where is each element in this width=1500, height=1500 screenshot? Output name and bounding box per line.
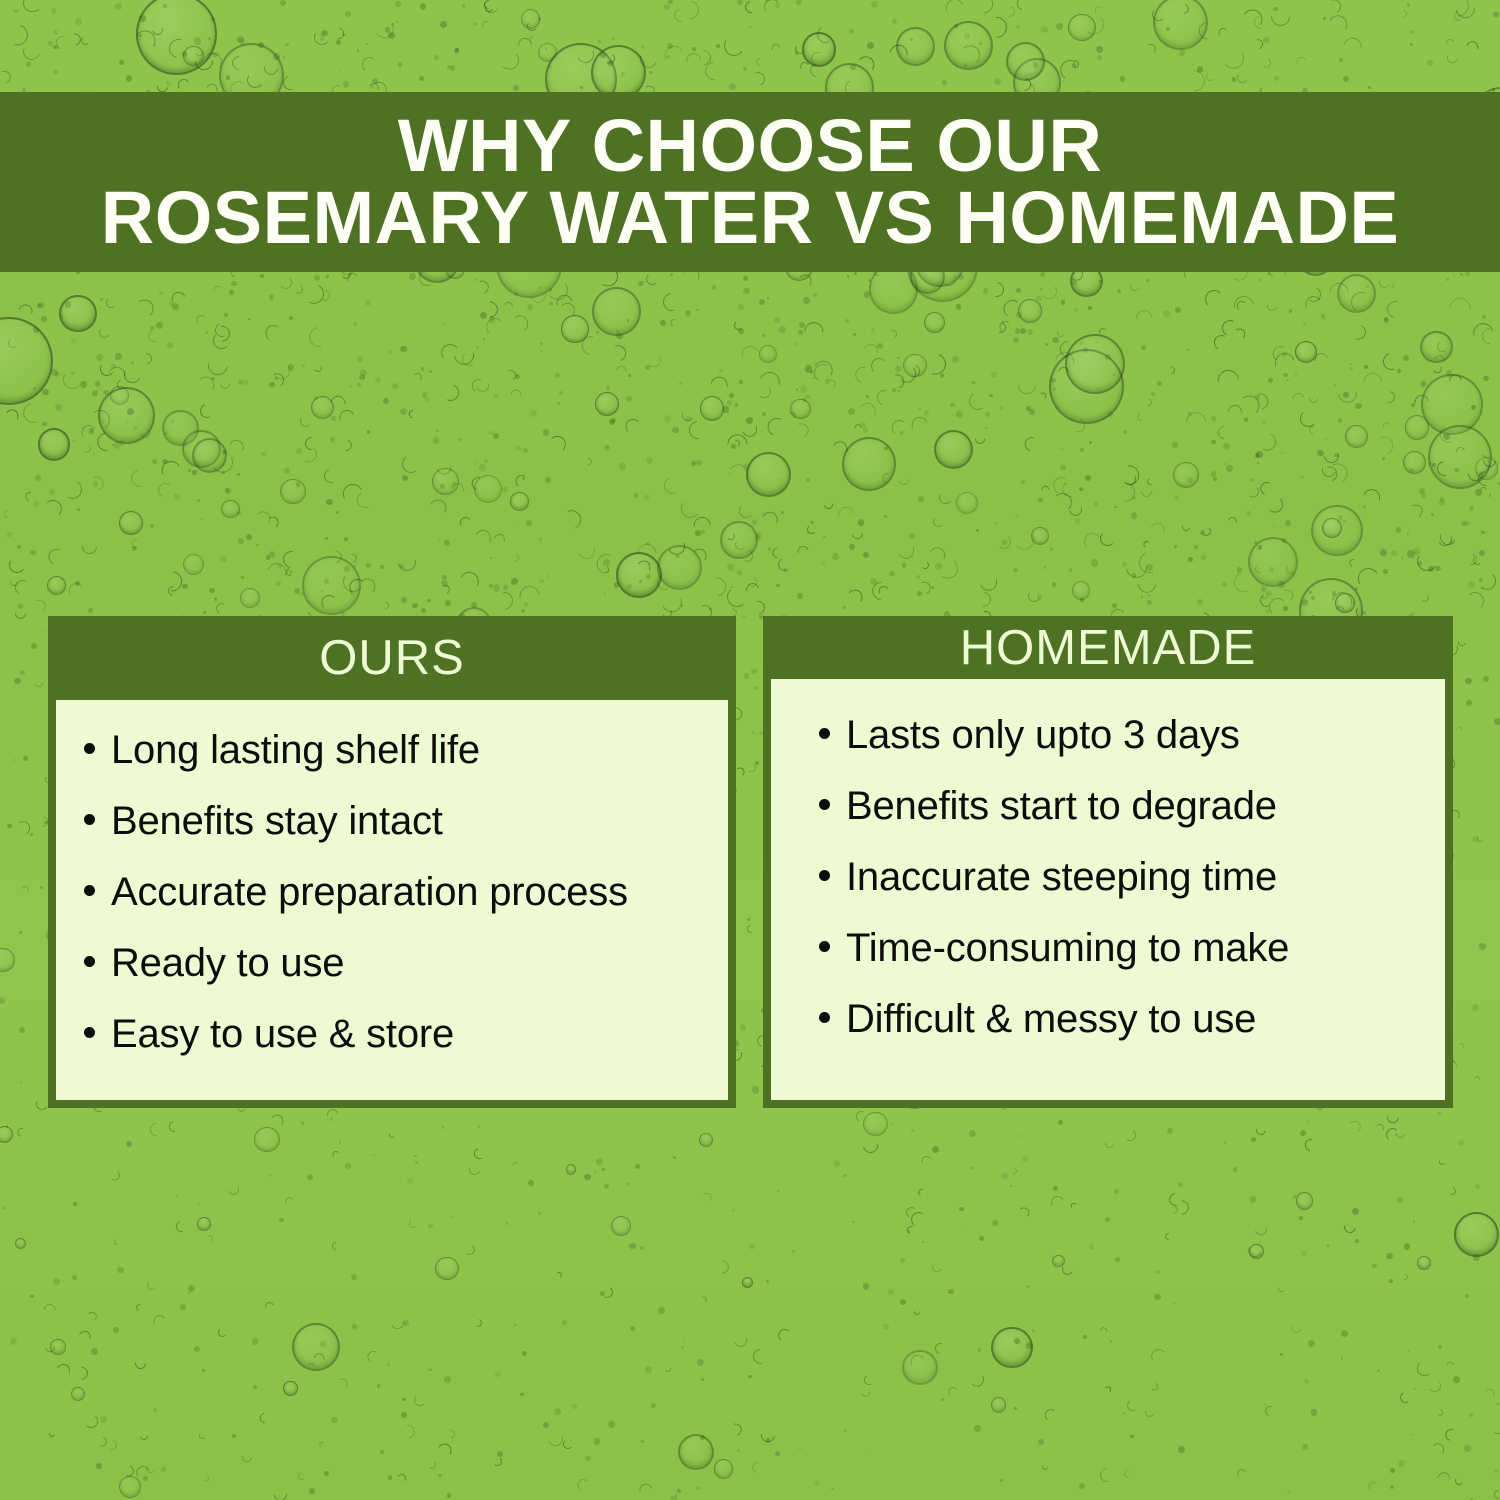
card-ours: OURS Long lasting shelf life Benefits st… [48,616,736,1108]
card-homemade-body: Lasts only upto 3 days Benefits start to… [771,679,1445,1100]
homemade-drawback-list: Lasts only upto 3 days Benefits start to… [819,715,1427,1070]
list-item: Accurate preparation process [84,872,710,912]
list-item-label: Difficult & messy to use [846,999,1256,1039]
bullet-icon [819,941,830,952]
bullet-icon [84,814,95,825]
title-line-2: ROSEMARY WATER VS HOMEMADE [101,182,1400,254]
list-item: Easy to use & store [84,1014,710,1054]
list-item-label: Benefits stay intact [111,801,443,841]
list-item: Inaccurate steeping time [819,857,1427,897]
ours-benefit-list: Long lasting shelf life Benefits stay in… [84,730,710,1054]
card-homemade-title: HOMEMADE [763,616,1453,679]
comparison-cards: OURS Long lasting shelf life Benefits st… [48,616,1453,1108]
title-line-1: WHY CHOOSE OUR [398,110,1103,182]
list-item-label: Inaccurate steeping time [846,857,1277,897]
bullet-icon [84,956,95,967]
bullet-icon [819,799,830,810]
list-item: Long lasting shelf life [84,730,710,770]
list-item: Time-consuming to make [819,928,1427,968]
infographic-poster: WHY CHOOSE OUR ROSEMARY WATER VS HOMEMAD… [0,0,1500,1500]
list-item-label: Long lasting shelf life [111,730,480,770]
card-ours-title: OURS [48,616,736,700]
bullet-icon [819,870,830,881]
list-item-label: Ready to use [111,943,344,983]
list-item: Ready to use [84,943,710,983]
bullet-icon [819,1012,830,1023]
list-item-label: Accurate preparation process [111,872,628,912]
list-item: Difficult & messy to use [819,999,1427,1039]
bullet-icon [819,728,830,739]
list-item-label: Benefits start to degrade [846,786,1277,826]
list-item-label: Easy to use & store [111,1014,454,1054]
bullet-icon [84,885,95,896]
list-item: Lasts only upto 3 days [819,715,1427,755]
list-item-label: Time-consuming to make [846,928,1289,968]
list-item: Benefits start to degrade [819,786,1427,826]
list-item: Benefits stay intact [84,801,710,841]
card-homemade: HOMEMADE Lasts only upto 3 days Benefits… [763,616,1453,1108]
bullet-icon [84,1027,95,1038]
bullet-icon [84,743,95,754]
list-item-label: Lasts only upto 3 days [846,715,1240,755]
title-banner: WHY CHOOSE OUR ROSEMARY WATER VS HOMEMAD… [0,92,1500,272]
card-ours-body: Long lasting shelf life Benefits stay in… [56,700,728,1100]
